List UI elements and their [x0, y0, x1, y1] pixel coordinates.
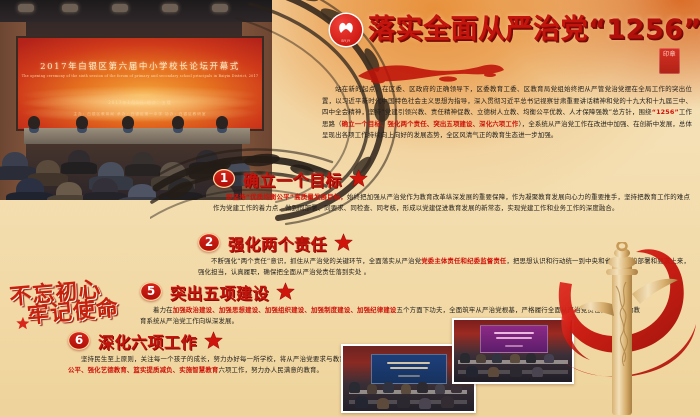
- audience-head: [68, 150, 90, 171]
- page-title: 落实全面从严治党“1256”工作思路: [368, 12, 700, 48]
- audience-head: [2, 152, 28, 176]
- audience-head: [128, 184, 156, 200]
- section-2-strengthen-two-responsibilities: 2 强化两个责任 不断强化“两个责任”意识，抓住从严治党的关键环节，全面落实从严…: [198, 232, 690, 279]
- red-star-icon: [204, 331, 223, 350]
- ceiling-light: [112, 4, 128, 12]
- audience-head: [16, 178, 44, 200]
- audience-head: [36, 160, 60, 182]
- section-2-body: 不断强化“两个责任”意识，抓住从严治党的关键环节，全面落实从严治党党委主体责任和…: [198, 256, 690, 279]
- section-2-header: 2 强化两个责任: [198, 232, 690, 253]
- ceiling-light: [62, 4, 78, 12]
- section-1-number-badge: 1: [213, 169, 235, 188]
- section-2-highlight: 党委主体责任和纪委监督责任: [421, 257, 506, 265]
- seated-official: [172, 116, 184, 129]
- section-6-title: 深化六项工作: [98, 329, 197, 353]
- ceiling-light: [18, 4, 34, 12]
- audience-head: [56, 182, 82, 200]
- ceiling-strip: [0, 0, 272, 22]
- head-table: [24, 128, 250, 144]
- led-stage-screen: 2017年白银区第六届中小学校长论坛开幕式 The opening ceremo…: [16, 36, 264, 131]
- section-2-number-badge: 2: [198, 233, 220, 252]
- section-1-title: 确立一个目标: [243, 167, 342, 191]
- screen-meta-line-1: 2017年1月5日 地点：五楼: [18, 100, 262, 106]
- section-5-header: 5 突出五项建设: [140, 281, 640, 302]
- photo-b-projection-screen: [480, 325, 548, 353]
- ceiling-light: [162, 4, 178, 12]
- section-1-highlight: 即坚持“优质均衡公平”高质量发展目标，: [226, 193, 347, 201]
- seal-text: 印章: [659, 48, 680, 59]
- intro-text-2: 总方针，围绕: [612, 108, 652, 116]
- intro-highlight-1256: “1256”: [652, 108, 679, 116]
- section-2-title: 强化两个责任: [228, 231, 327, 255]
- calligraphy-line-2: 牢记使命: [26, 290, 120, 330]
- photo-a-projection-screen: [371, 354, 447, 384]
- intro-highlight-fourpoints: 确立一个目标、强化两个责任、突出五项建设、深化六项工作: [342, 120, 519, 128]
- intro-quote-1: “党建引领兴教、责任精神促教、立德树人立教、均衡公平优教、人才保障强教”: [381, 108, 612, 116]
- title-text-main: 落实全面从严治党: [368, 14, 588, 45]
- seated-official: [216, 116, 228, 129]
- audience-head: [132, 152, 154, 173]
- section-6-text-post: 六项工作，努力办人民满意的教育。: [218, 366, 323, 374]
- audience-head: [168, 178, 194, 200]
- propaganda-board: 2017年白银区第六届中小学校长论坛开幕式 The opening ceremo…: [0, 0, 700, 417]
- screen-title: 2017年白银区第六届中小学校长论坛开幕式: [18, 60, 262, 72]
- audience-head: [92, 178, 118, 200]
- conference-photo-b: [452, 318, 574, 384]
- section-5-text-pre: 着力在: [153, 306, 173, 314]
- section-5-title: 突出五项建设: [170, 280, 269, 304]
- section-5-highlight: 加强政治建设、加强思想建设、加强组织建设、加强制度建设、加强纪律建设: [173, 306, 397, 314]
- seated-official: [28, 116, 40, 129]
- section-6-number-badge: 6: [68, 331, 90, 350]
- red-star-icon: [334, 233, 353, 252]
- calligraphy-slogan: 不忘初心 牢记使命: [6, 269, 136, 332]
- section-1-body: 即坚持“优质均衡公平”高质量发展目标，始终把加强从严治党作为教育改革纵深发展的重…: [213, 192, 690, 215]
- byjy-logo-icon: BYJY: [330, 14, 362, 46]
- intro-paragraph: 站在新的起点，在区委、区政府的正确领导下，区委教育工委、区教育局党组始终把从严管…: [322, 84, 692, 142]
- red-star-icon: [16, 316, 30, 330]
- red-star-icon: [276, 282, 295, 301]
- ceiling-light: [212, 4, 228, 12]
- seated-official: [76, 116, 88, 129]
- red-star-icon: [349, 169, 368, 188]
- screen-subtitle: The opening ceremony of the sixth sessio…: [18, 74, 262, 78]
- section-5-number-badge: 5: [140, 282, 162, 301]
- section-2-text-pre: 不断强化“两个责任”意识，抓住从严治党的关键环节，全面落实从严治党: [211, 257, 421, 265]
- seated-official: [122, 116, 134, 129]
- section-1-establish-one-goal: 1 确立一个目标 即坚持“优质均衡公平”高质量发展目标，始终把加强从严治党作为教…: [213, 168, 690, 215]
- red-seal-stamp: 印章: [659, 48, 680, 74]
- logo-abbrev-text: BYJY: [330, 39, 362, 43]
- section-1-header: 1 确立一个目标: [213, 168, 690, 189]
- title-text-quote: “1256”: [588, 14, 700, 45]
